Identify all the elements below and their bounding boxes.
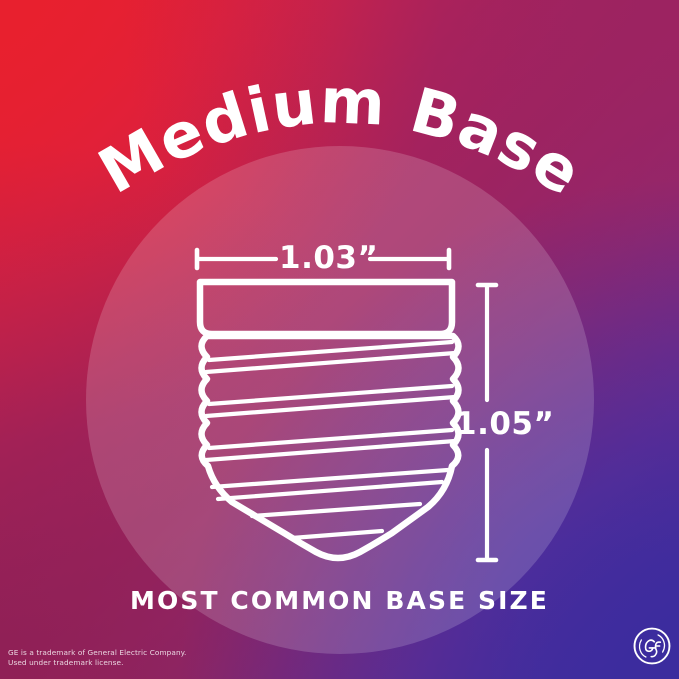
legal-line-1: GE is a trademark of General Electric Co… <box>8 648 186 658</box>
legal-disclaimer: GE is a trademark of General Electric Co… <box>8 648 186 668</box>
height-dimension-label: 1.05” <box>455 406 554 442</box>
product-infographic: Medium Base <box>0 0 679 679</box>
lightbulb-base-illustration <box>200 282 459 558</box>
width-dimension-label: 1.03” <box>279 240 378 276</box>
diagram-artwork: Medium Base <box>0 0 679 679</box>
ge-monogram-logo <box>633 627 671 665</box>
page-title: Medium Base <box>86 64 594 210</box>
legal-line-2: Used under trademark license. <box>8 658 186 668</box>
caption-text: MOST COMMON BASE SIZE <box>0 586 679 615</box>
